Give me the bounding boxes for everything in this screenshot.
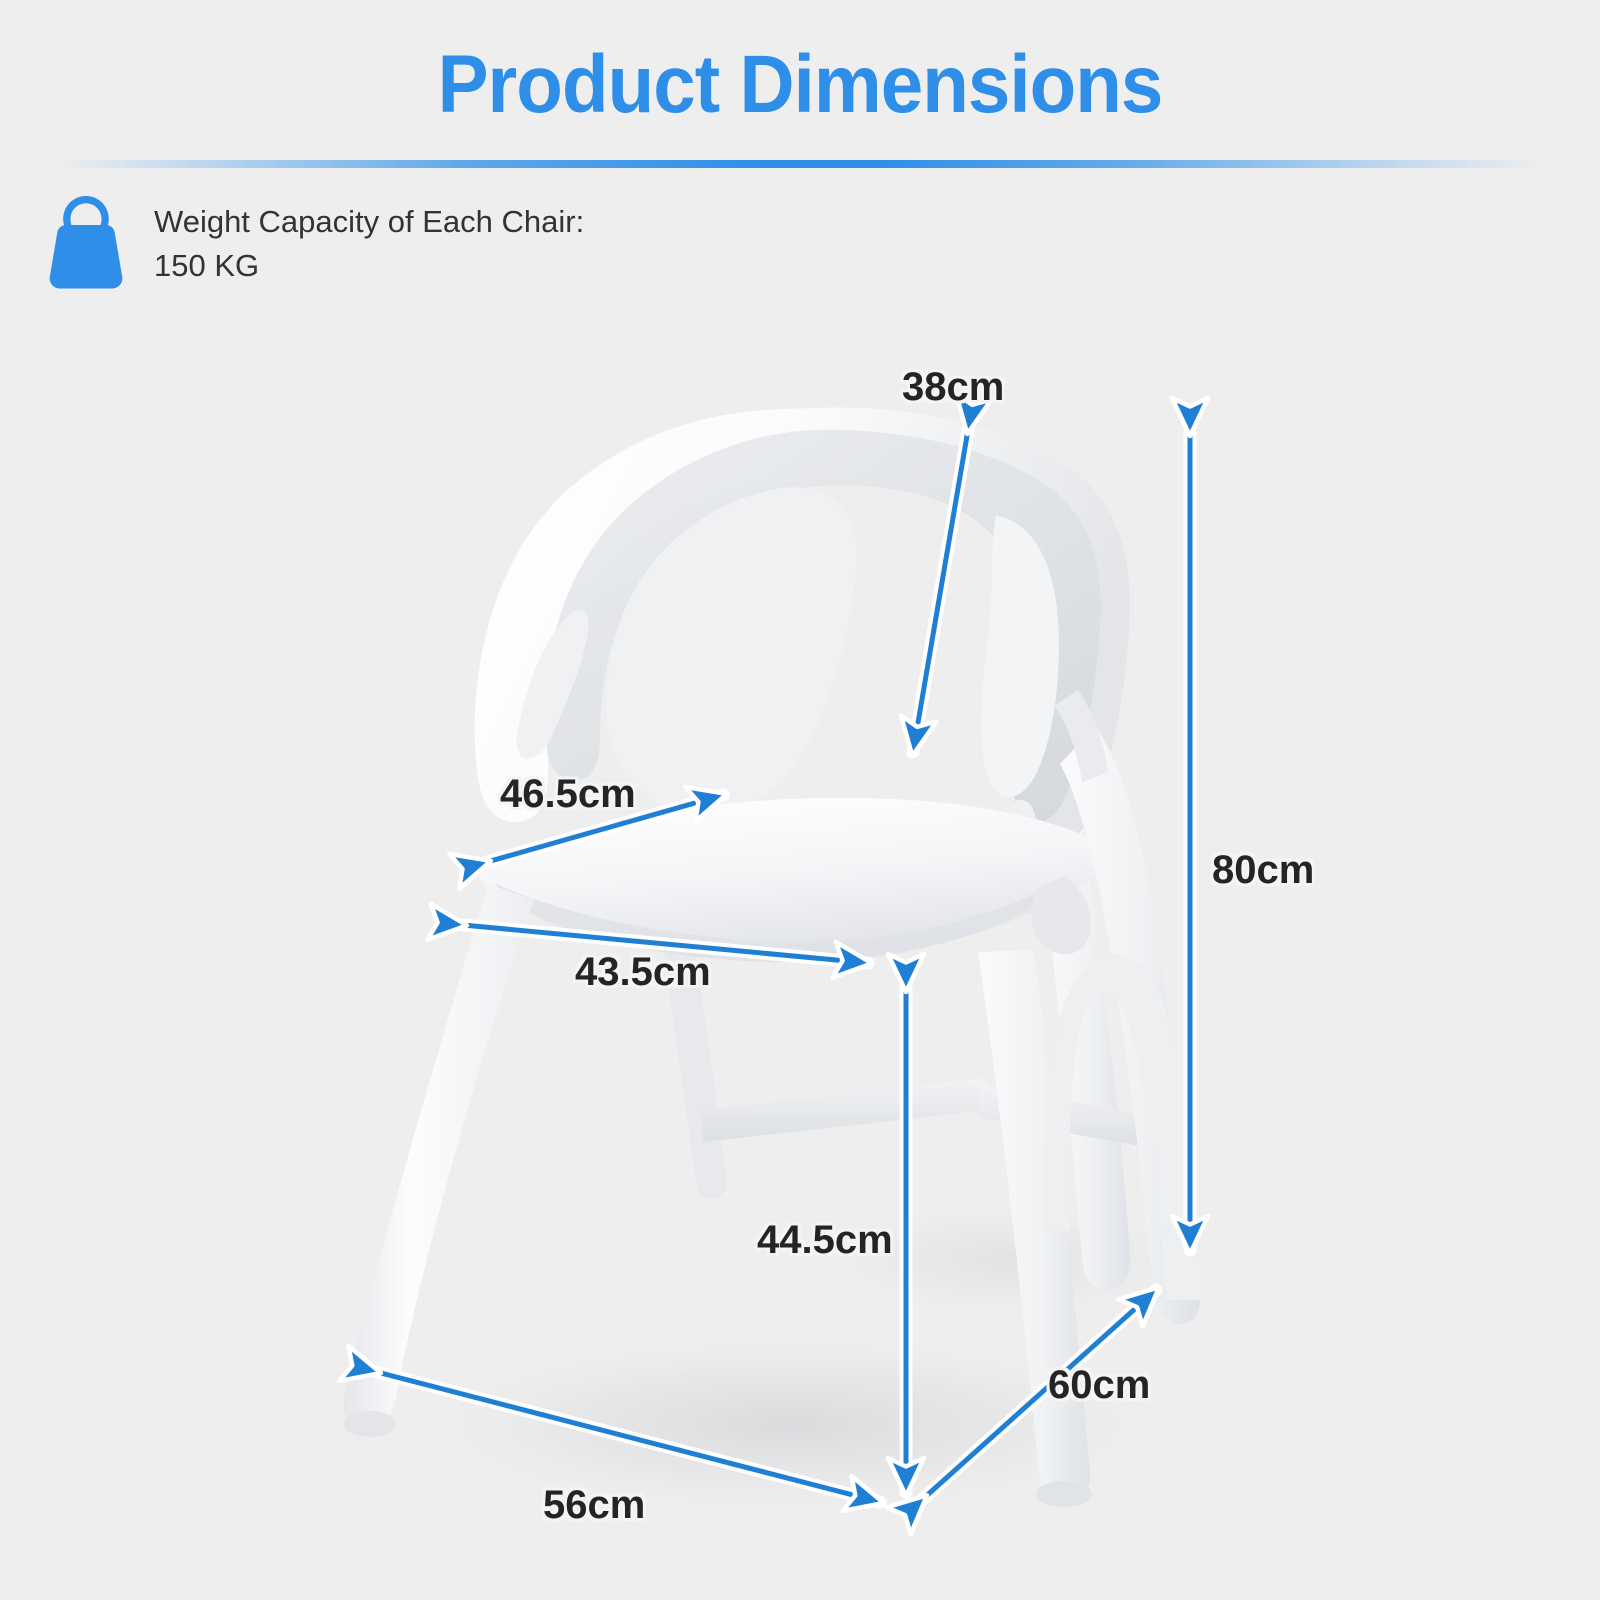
dimension-label-46-5cm: 46.5cm [500,772,636,817]
dimension-label-80cm: 80cm [1212,848,1314,893]
product-scene [0,0,1600,1600]
chair-left-foot [344,1411,396,1437]
dimension-label-43-5cm: 43.5cm [575,950,711,995]
chair-front-left-leg [344,884,534,1429]
product-dimensions-infographic: Product Dimensions Weight Capacity of Ea… [0,0,1600,1600]
chair-right-foot [1036,1481,1092,1507]
dimension-label-44-5cm: 44.5cm [757,1218,893,1263]
dimension-label-60cm: 60cm [1048,1363,1150,1408]
dimension-label-38cm: 38cm [902,365,1004,410]
dimension-label-56cm: 56cm [543,1483,645,1528]
chair-stretcher-front [700,1078,988,1142]
